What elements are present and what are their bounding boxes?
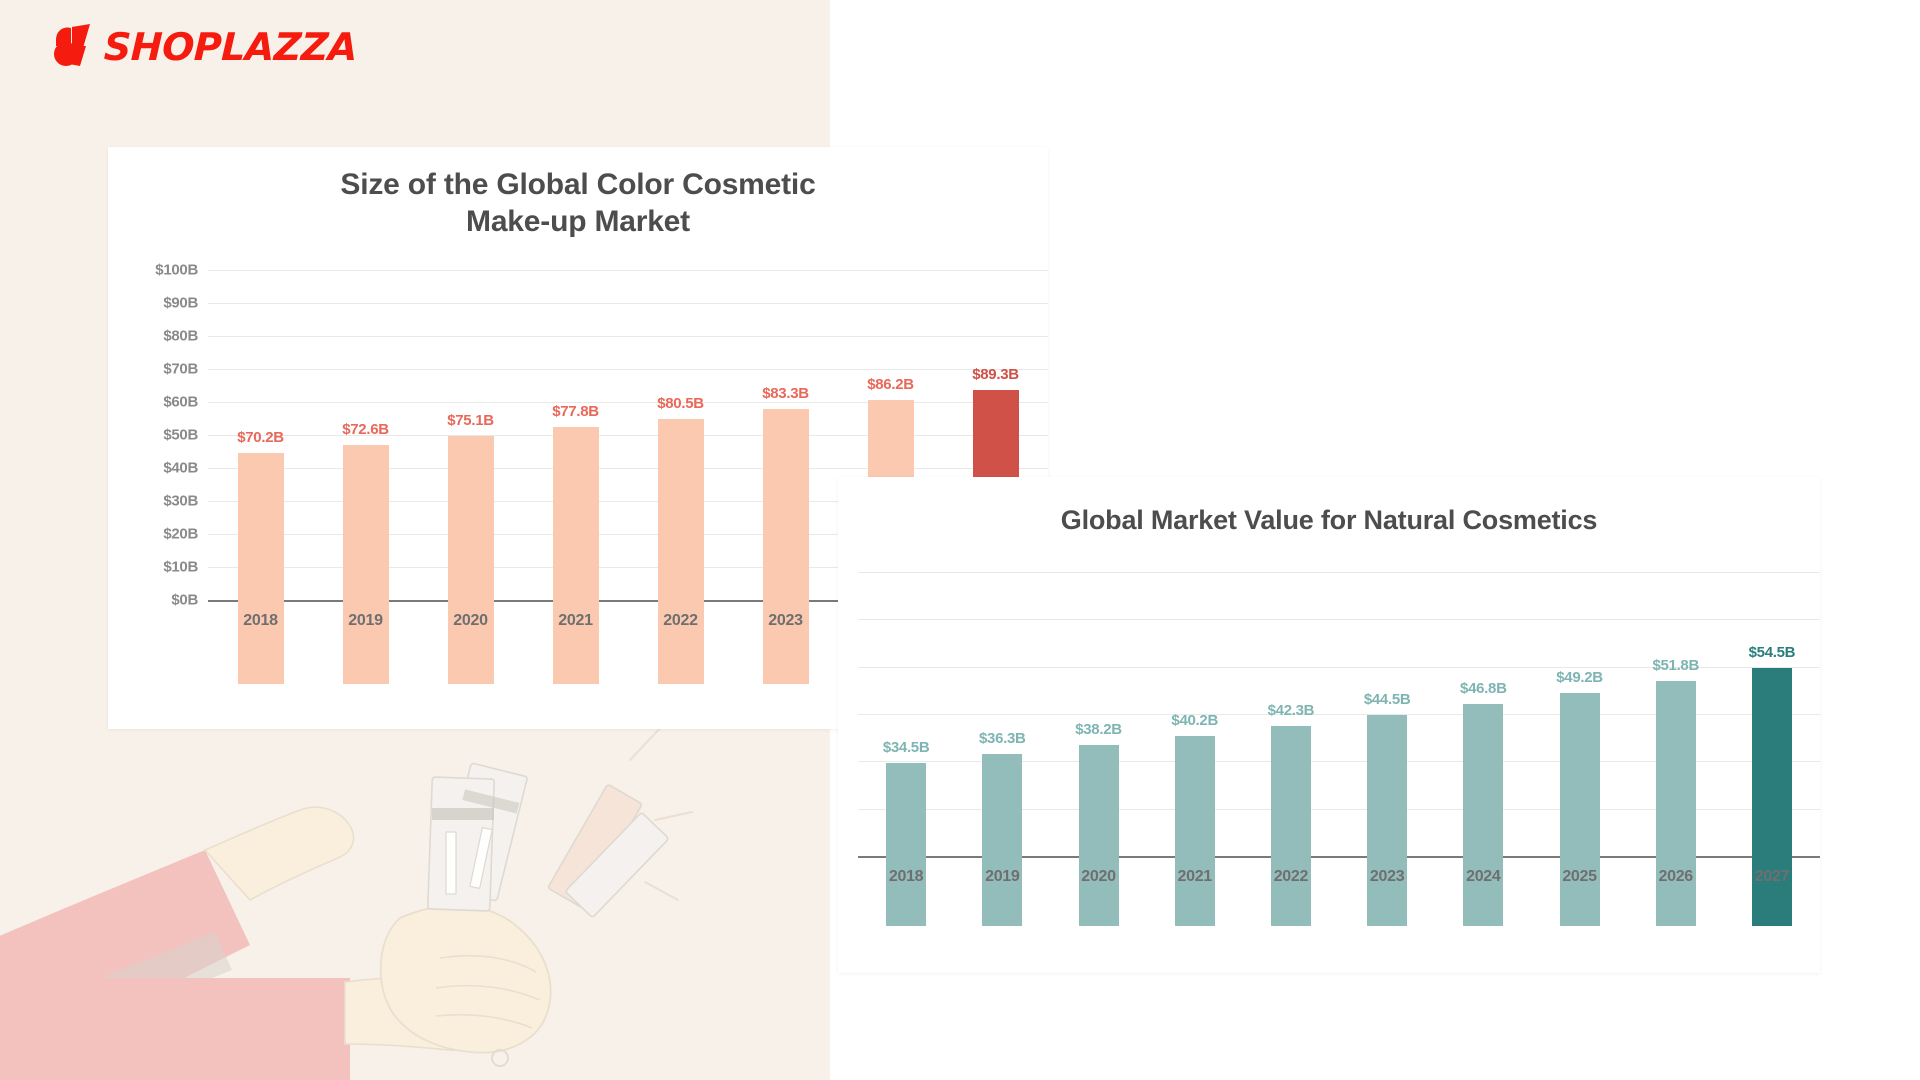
y-axis-tick-label: $50B	[163, 427, 198, 444]
bar-rect[interactable]	[886, 763, 926, 926]
bar-value-label: $86.2B	[867, 376, 914, 393]
x-axis-tick-label: 2026	[1628, 868, 1724, 886]
y-axis-tick-label: $90B	[163, 295, 198, 312]
bar-column[interactable]: $75.1B	[418, 336, 523, 684]
bar-rect[interactable]	[1656, 681, 1696, 926]
x-axis-tick-label: 2027	[1724, 868, 1820, 886]
bar-value-label: $80.5B	[657, 395, 704, 412]
x-axis-tick-label: 2020	[418, 612, 523, 630]
bar-chart-natural: $34.5B$36.3B$38.2B$40.2B$42.3B$44.5B$46.…	[838, 554, 1820, 926]
bar-rect[interactable]	[1463, 704, 1503, 926]
x-axis-tick-label: 2025	[1531, 868, 1627, 886]
x-axis-tick-label: 2019	[313, 612, 418, 630]
shoplazza-logo[interactable]: SHOPLAZZA	[52, 24, 357, 70]
x-axis-tick-label: 2018	[208, 612, 313, 630]
bar-value-label: $83.3B	[762, 385, 809, 402]
hands-holding-credit-cards-illustration	[0, 700, 700, 1080]
bar-rect[interactable]	[1367, 715, 1407, 926]
x-axis-tick-label: 2024	[1435, 868, 1531, 886]
bar-value-label: $72.6B	[342, 421, 389, 438]
gridline	[208, 303, 1048, 304]
chart-card-natural-cosmetics: Global Market Value for Natural Cosmetic…	[838, 477, 1820, 973]
bar-column[interactable]: $80.5B	[628, 336, 733, 684]
x-axis-tick-label: 2020	[1050, 868, 1146, 886]
bar-value-label: $75.1B	[447, 412, 494, 429]
bar-rect[interactable]	[448, 436, 494, 684]
bar-value-label: $36.3B	[979, 730, 1026, 747]
bar-rect[interactable]	[1175, 736, 1215, 926]
bar-value-label: $54.5B	[1749, 644, 1796, 661]
bar-value-label: $34.5B	[883, 739, 930, 756]
gridline	[858, 619, 1820, 620]
bar-rect[interactable]	[238, 453, 284, 685]
gridline	[208, 270, 1048, 271]
chart-title-makeup: Size of the Global Color Cosmetic Make-u…	[108, 147, 1048, 240]
bar-rect[interactable]	[1560, 693, 1600, 926]
x-axis-tick-label: 2019	[954, 868, 1050, 886]
y-axis-tick-label: $100B	[155, 262, 198, 279]
bar-value-label: $40.2B	[1171, 712, 1218, 729]
bar-value-label: $46.8B	[1460, 680, 1507, 697]
y-axis-tick-label: $30B	[163, 493, 198, 510]
bar-column[interactable]: $70.2B	[208, 336, 313, 684]
y-axis-labels-makeup: $100B$90B$80B$70B$60B$50B$40B$30B$20B$10…	[126, 252, 198, 684]
bar-value-label: $49.2B	[1556, 669, 1603, 686]
y-axis-tick-label: $80B	[163, 328, 198, 345]
y-axis-tick-label: $10B	[163, 559, 198, 576]
x-axis-tick-label: 2022	[1243, 868, 1339, 886]
x-axis-tick-label: 2021	[1147, 868, 1243, 886]
x-axis-tick-label: 2023	[1339, 868, 1435, 886]
bar-rect[interactable]	[1752, 668, 1792, 926]
bar-rect[interactable]	[553, 427, 599, 684]
x-axis-tick-label: 2018	[858, 868, 954, 886]
bar-rect[interactable]	[343, 445, 389, 685]
bar-value-label: $51.8B	[1652, 657, 1699, 674]
bar-value-label: $42.3B	[1268, 702, 1315, 719]
y-axis-tick-label: $20B	[163, 526, 198, 543]
gridline	[858, 572, 1820, 573]
bar-column[interactable]: $83.3B	[733, 336, 838, 684]
chart-title-natural: Global Market Value for Natural Cosmetic…	[838, 477, 1820, 536]
bar-value-label: $70.2B	[237, 429, 284, 446]
y-axis-tick-label: $40B	[163, 460, 198, 477]
bar-value-label: $77.8B	[552, 403, 599, 420]
y-axis-tick-label: $60B	[163, 394, 198, 411]
shoplazza-logo-mark	[52, 24, 94, 70]
x-axis-labels-natural: 2018201920202021202220232024202520262027	[858, 868, 1820, 886]
bar-rect[interactable]	[763, 409, 809, 684]
y-axis-tick-label: $70B	[163, 361, 198, 378]
bar-rect[interactable]	[982, 754, 1022, 926]
y-axis-tick-label: $0B	[171, 592, 198, 609]
bar-value-label: $38.2B	[1075, 721, 1122, 738]
bar-rect[interactable]	[1079, 745, 1119, 926]
x-axis-tick-label: 2021	[523, 612, 628, 630]
bar-column[interactable]: $77.8B	[523, 336, 628, 684]
bar-value-label: $89.3B	[972, 366, 1019, 383]
x-axis-tick-label: 2023	[733, 612, 838, 630]
bar-rect[interactable]	[658, 419, 704, 685]
bar-value-label: $44.5B	[1364, 691, 1411, 708]
bar-rect[interactable]	[1271, 726, 1311, 926]
shoplazza-wordmark: SHOPLAZZA	[103, 28, 357, 66]
bar-column[interactable]: $72.6B	[313, 336, 418, 684]
x-axis-tick-label: 2022	[628, 612, 733, 630]
